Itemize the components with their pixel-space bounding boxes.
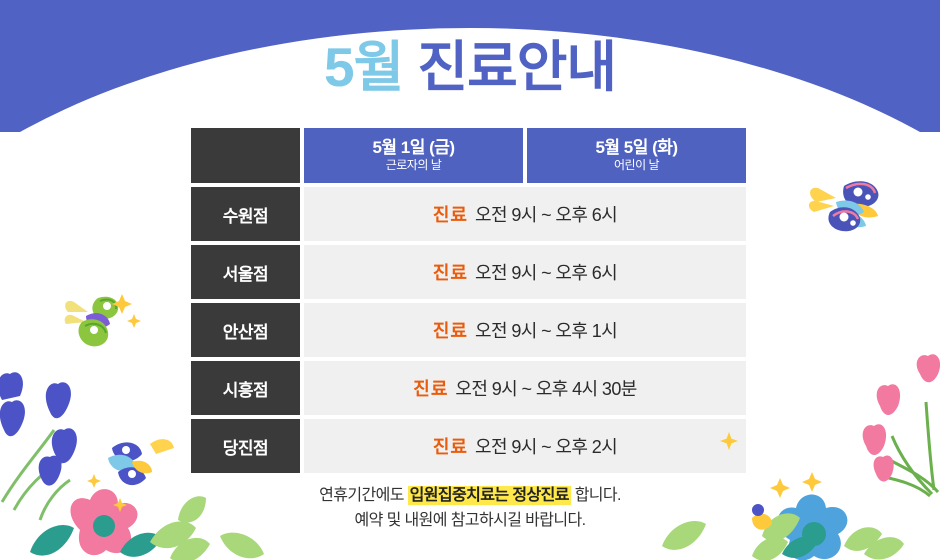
hours-text: 오전 9시 ~ 오후 1시 [475,317,617,343]
branch-label: 당진점 [191,419,300,473]
branch-label: 서울점 [191,245,300,299]
schedule-cell: 진료오전 9시 ~ 오후 4시 30분 [304,361,746,415]
butterfly-icon [62,288,142,358]
header-date-0: 5월 1일 (금) [372,138,454,157]
table-row: 서울점 진료오전 9시 ~ 오후 6시 [191,245,746,299]
footer-line1-after: 합니다. [571,487,621,504]
footer-line2: 예약 및 내원에 참고하시길 바랍니다. [0,509,940,534]
hours-text: 오전 9시 ~ 오후 6시 [475,259,617,285]
table-row: 시흥점 진료오전 9시 ~ 오후 4시 30분 [191,361,746,415]
footer-line1-before: 연휴기간에도 [319,487,408,504]
status-badge: 진료 [433,259,468,285]
status-badge: 진료 [433,317,468,343]
schedule-cell: 진료오전 9시 ~ 오후 6시 [304,187,746,241]
table-header-col-0: 5월 1일 (금) 근로자의 날 [304,128,523,183]
poster-root: 5월 진료안내 5월 1일 (금) 근로자의 날 5월 5일 (화) 어린이 날… [0,0,940,560]
schedule-cell: 진료오전 9시 ~ 오후 2시 [304,419,746,473]
table-row: 수원점 진료오전 9시 ~ 오후 6시 [191,187,746,241]
butterfly-icon [806,172,892,242]
table-header-col-1: 5월 5일 (화) 어린이 날 [527,128,746,183]
hours-text: 오전 9시 ~ 오후 6시 [475,201,617,227]
title-month: 5월 [324,36,403,98]
page-title: 5월 진료안내 [0,40,940,95]
footer-note: 연휴기간에도 입원집중치료는 정상진료 합니다. 예약 및 내원에 참고하시길 … [0,484,940,534]
header-holiday-0: 근로자의 날 [386,159,442,172]
footer-highlight: 입원집중치료는 정상진료 [408,486,571,505]
status-badge: 진료 [413,375,448,401]
branch-label: 시흥점 [191,361,300,415]
branch-label: 수원점 [191,187,300,241]
schedule-cell: 진료오전 9시 ~ 오후 1시 [304,303,746,357]
schedule-table: 5월 1일 (금) 근로자의 날 5월 5일 (화) 어린이 날 수원점 진료오… [191,128,746,477]
table-row: 당진점 진료오전 9시 ~ 오후 2시 [191,419,746,473]
status-badge: 진료 [433,201,468,227]
branch-label: 안산점 [191,303,300,357]
table-corner-cell [191,128,300,183]
hours-text: 오전 9시 ~ 오후 2시 [475,433,617,459]
table-row: 안산점 진료오전 9시 ~ 오후 1시 [191,303,746,357]
header-date-1: 5월 5일 (화) [595,138,677,157]
schedule-cell: 진료오전 9시 ~ 오후 6시 [304,245,746,299]
hours-text: 오전 9시 ~ 오후 4시 30분 [455,375,636,401]
header-holiday-1: 어린이 날 [614,159,659,172]
title-main: 진료안내 [418,36,616,98]
status-badge: 진료 [433,433,468,459]
table-header-row: 5월 1일 (금) 근로자의 날 5월 5일 (화) 어린이 날 [191,128,746,183]
